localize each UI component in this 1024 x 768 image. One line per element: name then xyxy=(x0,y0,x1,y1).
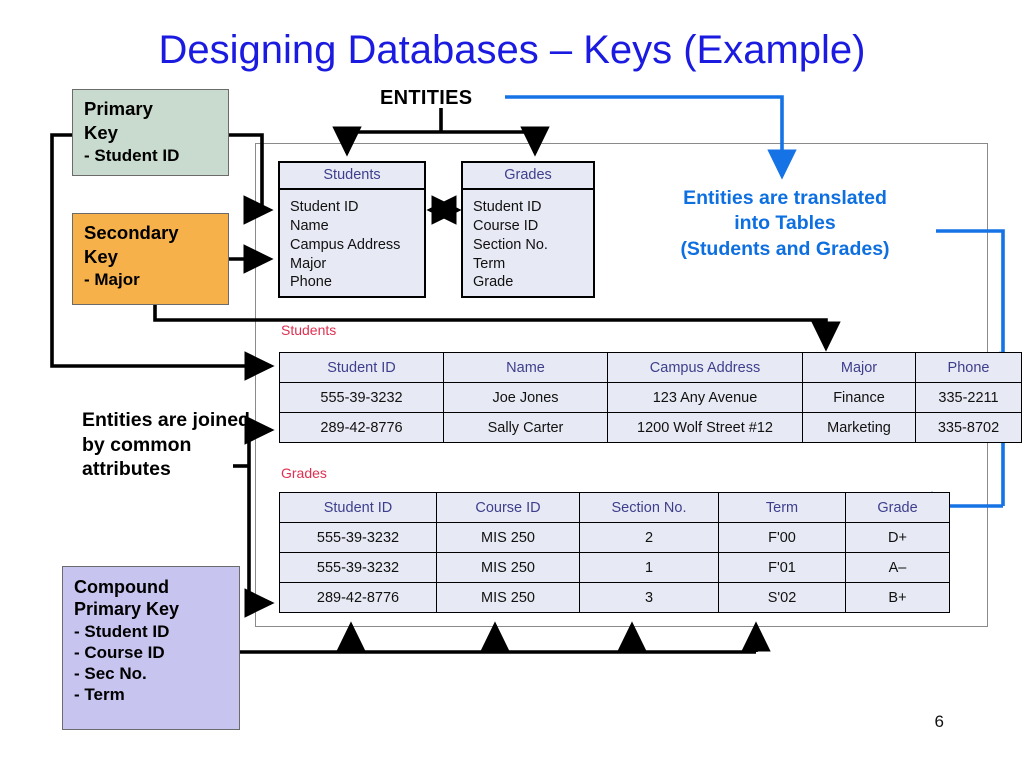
students-table: Student ID Name Campus Address Major Pho… xyxy=(279,352,1022,443)
table-cell: 335-8702 xyxy=(916,413,1022,443)
secondary-key-title-line2: Key xyxy=(84,245,228,269)
entities-joined-label: Entities are joined by common attributes xyxy=(82,408,252,482)
table-row: 289-42-8776 MIS 250 3 S'02 B+ xyxy=(280,583,950,613)
entities-label: ENTITIES xyxy=(380,87,472,110)
table-cell: Marketing xyxy=(803,413,916,443)
primary-key-title-line1: Primary xyxy=(84,97,228,121)
entity-attribute: Section No. xyxy=(473,236,593,255)
entity-attributes: Student ID Course ID Section No. Term Gr… xyxy=(463,190,593,298)
table-cell: 335-2211 xyxy=(916,383,1022,413)
compound-key-detail-2: - Sec No. xyxy=(74,663,239,684)
column-header: Student ID xyxy=(280,493,437,523)
secondary-key-callout: Secondary Key - Major xyxy=(72,213,229,305)
entity-attribute: Campus Address xyxy=(290,236,424,255)
compound-primary-key-callout: Compound Primary Key - Student ID - Cour… xyxy=(62,566,240,730)
entity-attribute: Grade xyxy=(473,273,593,292)
compound-key-title-line2: Primary Key xyxy=(74,598,239,620)
table-cell: 3 xyxy=(580,583,719,613)
translated-note-line-1: into Tables xyxy=(630,211,940,236)
entity-box-students: Students Student ID Name Campus Address … xyxy=(278,161,426,298)
entity-attribute: Student ID xyxy=(290,198,424,217)
secondary-key-detail: - Major xyxy=(84,269,228,291)
column-header: Course ID xyxy=(437,493,580,523)
column-header: Grade xyxy=(846,493,950,523)
table-cell: MIS 250 xyxy=(437,583,580,613)
translated-note-line-2: (Students and Grades) xyxy=(630,237,940,262)
students-table-label: Students xyxy=(281,322,336,338)
table-header-row: Student ID Course ID Section No. Term Gr… xyxy=(280,493,950,523)
primary-key-detail: - Student ID xyxy=(84,145,228,167)
table-cell: F'00 xyxy=(719,523,846,553)
table-cell: Finance xyxy=(803,383,916,413)
table-cell: 555-39-3232 xyxy=(280,383,444,413)
table-cell: S'02 xyxy=(719,583,846,613)
table-cell: MIS 250 xyxy=(437,553,580,583)
entity-attribute: Student ID xyxy=(473,198,593,217)
column-header: Term xyxy=(719,493,846,523)
table-row: 555-39-3232 MIS 250 1 F'01 A– xyxy=(280,553,950,583)
column-header: Major xyxy=(803,353,916,383)
table-cell: B+ xyxy=(846,583,950,613)
column-header: Phone xyxy=(916,353,1022,383)
entity-attribute: Phone xyxy=(290,273,424,292)
column-header: Section No. xyxy=(580,493,719,523)
compound-key-detail-1: - Course ID xyxy=(74,642,239,663)
grades-table-label: Grades xyxy=(281,465,327,481)
table-cell: 289-42-8776 xyxy=(280,583,437,613)
grades-table: Student ID Course ID Section No. Term Gr… xyxy=(279,492,950,613)
entity-name: Grades xyxy=(463,163,593,190)
table-cell: 1 xyxy=(580,553,719,583)
entity-box-grades: Grades Student ID Course ID Section No. … xyxy=(461,161,595,298)
entity-attributes: Student ID Name Campus Address Major Pho… xyxy=(280,190,424,298)
table-cell: D+ xyxy=(846,523,950,553)
table-cell: 555-39-3232 xyxy=(280,553,437,583)
primary-key-callout: Primary Key - Student ID xyxy=(72,89,229,176)
table-row: 289-42-8776 Sally Carter 1200 Wolf Stree… xyxy=(280,413,1022,443)
secondary-key-title-line1: Secondary xyxy=(84,221,228,245)
table-cell: Sally Carter xyxy=(444,413,608,443)
compound-key-detail-3: - Term xyxy=(74,684,239,705)
compound-key-detail-0: - Student ID xyxy=(74,621,239,642)
table-cell: 289-42-8776 xyxy=(280,413,444,443)
entities-translated-note: Entities are translated into Tables (Stu… xyxy=(630,186,940,262)
table-cell: F'01 xyxy=(719,553,846,583)
table-cell: A– xyxy=(846,553,950,583)
entity-attribute: Term xyxy=(473,255,593,274)
column-header: Name xyxy=(444,353,608,383)
column-header: Campus Address xyxy=(608,353,803,383)
translated-note-line-0: Entities are translated xyxy=(630,186,940,211)
table-cell: 123 Any Avenue xyxy=(608,383,803,413)
table-cell: 2 xyxy=(580,523,719,553)
table-row: 555-39-3232 Joe Jones 123 Any Avenue Fin… xyxy=(280,383,1022,413)
compound-key-title-line1: Compound xyxy=(74,576,239,598)
entity-attribute: Major xyxy=(290,255,424,274)
column-header: Student ID xyxy=(280,353,444,383)
table-row: 555-39-3232 MIS 250 2 F'00 D+ xyxy=(280,523,950,553)
table-cell: Joe Jones xyxy=(444,383,608,413)
entity-attribute: Course ID xyxy=(473,217,593,236)
table-cell: 1200 Wolf Street #12 xyxy=(608,413,803,443)
page-number: 6 xyxy=(935,712,944,732)
page-title: Designing Databases – Keys (Example) xyxy=(0,28,1024,73)
table-cell: 555-39-3232 xyxy=(280,523,437,553)
entity-name: Students xyxy=(280,163,424,190)
entity-attribute: Name xyxy=(290,217,424,236)
table-header-row: Student ID Name Campus Address Major Pho… xyxy=(280,353,1022,383)
table-cell: MIS 250 xyxy=(437,523,580,553)
primary-key-title-line2: Key xyxy=(84,121,228,145)
